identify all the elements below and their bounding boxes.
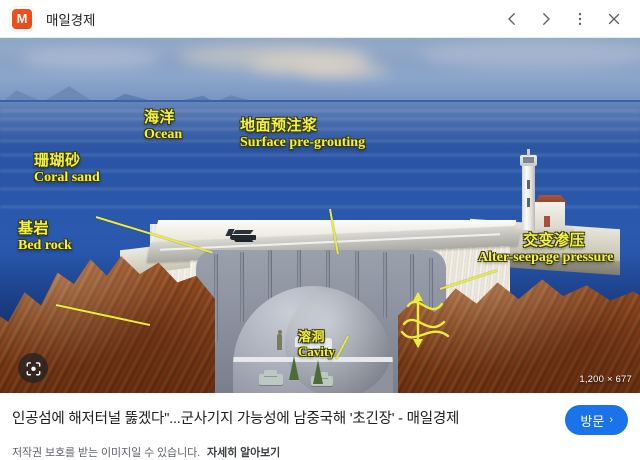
lighthouse-lantern-glass (523, 157, 534, 163)
wave-line (0, 118, 640, 120)
previous-result-button[interactable] (496, 3, 528, 35)
result-info-bar: 인공섬에 해저터널 뚫겠다"...군사기지 가능성에 남중국해 '초긴장' - … (0, 393, 640, 459)
wave-line (0, 128, 640, 130)
more-options-button[interactable] (564, 3, 596, 35)
cloud (300, 64, 390, 78)
google-lens-button[interactable] (18, 353, 48, 383)
person-silhouette (277, 334, 282, 350)
site-favicon: M (12, 9, 32, 29)
favicon-letter: M (17, 12, 28, 25)
cloud (420, 40, 640, 70)
chair (324, 338, 332, 349)
disclaimer-text: 저작권 보호를 받는 이미지일 수 있습니다. (12, 447, 200, 459)
info-row: 인공섬에 해저터널 뚫겠다"...군사기지 가능성에 남중국해 '초긴장' - … (12, 405, 628, 435)
missile-silo (313, 360, 323, 384)
close-button[interactable] (598, 3, 630, 35)
preview-image[interactable]: 海洋 Ocean 珊瑚砂 Coral sand 基岩 Bed rock 地面预注… (0, 38, 640, 393)
lighthouse-door (544, 216, 550, 227)
more-vertical-icon (571, 10, 589, 28)
cloud (20, 48, 160, 70)
wave-line (0, 154, 640, 156)
camera-lens-icon (25, 360, 42, 377)
table-leg (310, 348, 313, 357)
chevron-right-icon: › (609, 415, 613, 426)
jet-fuselage (230, 235, 256, 240)
vehicle-cabin (264, 370, 277, 376)
close-icon (605, 10, 623, 28)
result-header: M 매일경제 (0, 0, 640, 38)
wave-line (0, 170, 640, 172)
lighthouse-window (527, 198, 530, 207)
next-result-button[interactable] (530, 3, 562, 35)
missile-silo (289, 356, 299, 380)
lighthouse-finial (527, 149, 530, 156)
sky-background (0, 38, 640, 104)
chevron-right-icon (537, 10, 555, 28)
visit-button[interactable]: 방문 › (565, 405, 628, 435)
wave-line (0, 110, 640, 112)
lighthouse-window (527, 180, 530, 189)
visit-button-label: 방문 (580, 411, 604, 430)
chevron-left-icon (503, 10, 521, 28)
learn-more-link[interactable]: 자세히 알아보기 (207, 447, 280, 459)
fighter-jet (222, 228, 262, 246)
chair (295, 336, 303, 347)
image-size-badge: 1,200 × 677 (579, 374, 632, 385)
result-title[interactable]: 인공섬에 해저터널 뚫겠다"...군사기지 가능성에 남중국해 '초긴장' - … (12, 410, 565, 430)
lighthouse-house (535, 202, 565, 228)
grouting-column (383, 252, 387, 318)
site-name: 매일경제 (46, 9, 95, 29)
lighthouse-tower (522, 164, 535, 230)
grouting-column (240, 252, 244, 322)
wave-line (0, 188, 640, 190)
copyright-disclaimer: 저작권 보호를 받는 이미지일 수 있습니다. 자세히 알아보기 (12, 444, 628, 460)
wave-line (0, 140, 640, 142)
jet-wing (232, 230, 253, 234)
